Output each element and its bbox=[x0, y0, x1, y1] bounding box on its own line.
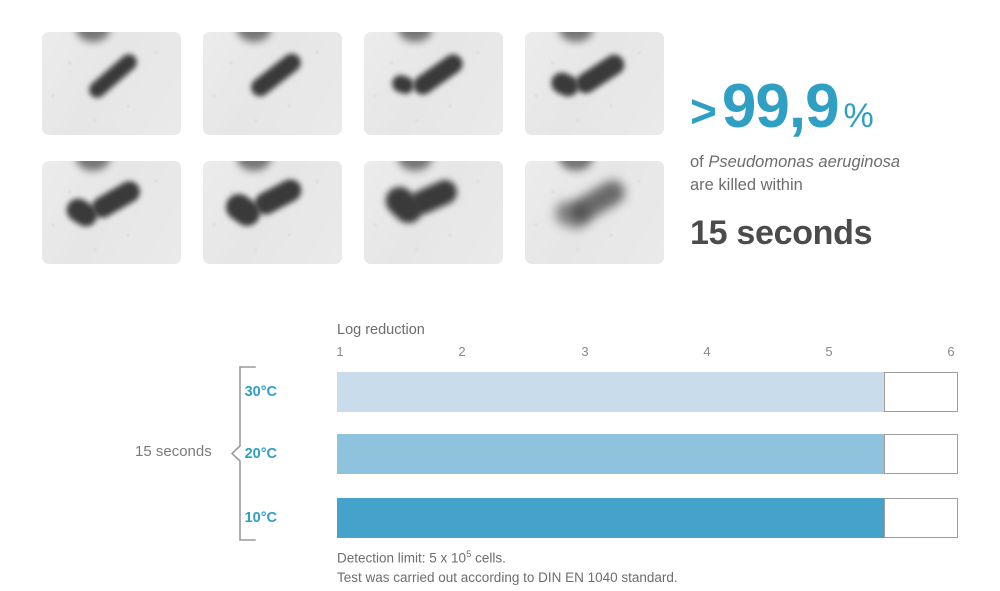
bar-category-label: 20°C bbox=[207, 434, 277, 474]
bracket-group-label: 15 seconds bbox=[135, 443, 212, 460]
species-name: Pseudomonas aeruginosa bbox=[708, 153, 900, 171]
bar-cap-box bbox=[884, 498, 958, 538]
chart-axis-title: Log reduction bbox=[337, 322, 425, 338]
detection-limit-prefix: Detection limit: 5 x 10 bbox=[337, 551, 466, 566]
microscopy-frame-3 bbox=[364, 32, 503, 135]
x-tick: 6 bbox=[947, 344, 954, 359]
x-tick: 4 bbox=[703, 344, 710, 359]
headline-subtext: of Pseudomonas aeruginosa are killed wit… bbox=[690, 151, 980, 198]
chart-footnote: Detection limit: 5 x 105 cells. Test was… bbox=[337, 548, 678, 588]
kill-time-value: 15 seconds bbox=[690, 214, 980, 253]
standard-note: Test was carried out according to DIN EN… bbox=[337, 570, 678, 585]
kill-rate-stat: > 99,9 % bbox=[690, 76, 980, 138]
microscopy-filmstrip bbox=[42, 32, 664, 290]
bar-cap-box bbox=[884, 434, 958, 474]
microscopy-frame-5 bbox=[42, 161, 181, 264]
bar-fill bbox=[337, 372, 884, 412]
bar-row: 20°C bbox=[337, 434, 950, 474]
microscopy-frame-1 bbox=[42, 32, 181, 135]
x-axis-ticks: 1 2 3 4 5 6 bbox=[0, 344, 1000, 362]
subject-suffix: are killed within bbox=[690, 176, 803, 194]
bar-cap-box bbox=[884, 372, 958, 412]
frame-background bbox=[203, 161, 342, 264]
detection-limit-suffix: cells. bbox=[471, 551, 506, 566]
microscopy-frame-2 bbox=[203, 32, 342, 135]
infographic-page: > 99,9 % of Pseudomonas aeruginosa are k… bbox=[0, 0, 1000, 591]
microscopy-frame-6 bbox=[203, 161, 342, 264]
x-tick: 5 bbox=[825, 344, 832, 359]
microscopy-frame-8 bbox=[525, 161, 664, 264]
filmstrip-row-bottom bbox=[42, 161, 664, 264]
x-tick: 1 bbox=[336, 344, 343, 359]
bar-row: 30°C bbox=[337, 372, 950, 412]
greater-than-symbol: > bbox=[690, 88, 716, 134]
frame-background bbox=[364, 161, 503, 264]
bar-row: 10°C bbox=[337, 498, 950, 538]
bar-fill bbox=[337, 498, 884, 538]
x-tick: 2 bbox=[458, 344, 465, 359]
log-reduction-chart: Log reduction 1 2 3 4 5 6 15 seconds 30°… bbox=[0, 316, 1000, 591]
x-tick: 3 bbox=[581, 344, 588, 359]
headline-block: > 99,9 % of Pseudomonas aeruginosa are k… bbox=[690, 76, 980, 253]
microscopy-frame-7 bbox=[364, 161, 503, 264]
microscopy-frame-4 bbox=[525, 32, 664, 135]
kill-rate-value: 99,9 bbox=[722, 76, 839, 138]
bar-fill bbox=[337, 434, 884, 474]
percent-symbol: % bbox=[844, 99, 873, 133]
bar-category-label: 30°C bbox=[207, 372, 277, 412]
filmstrip-row-top bbox=[42, 32, 664, 135]
subject-prefix: of bbox=[690, 153, 708, 171]
bar-category-label: 10°C bbox=[207, 498, 277, 538]
